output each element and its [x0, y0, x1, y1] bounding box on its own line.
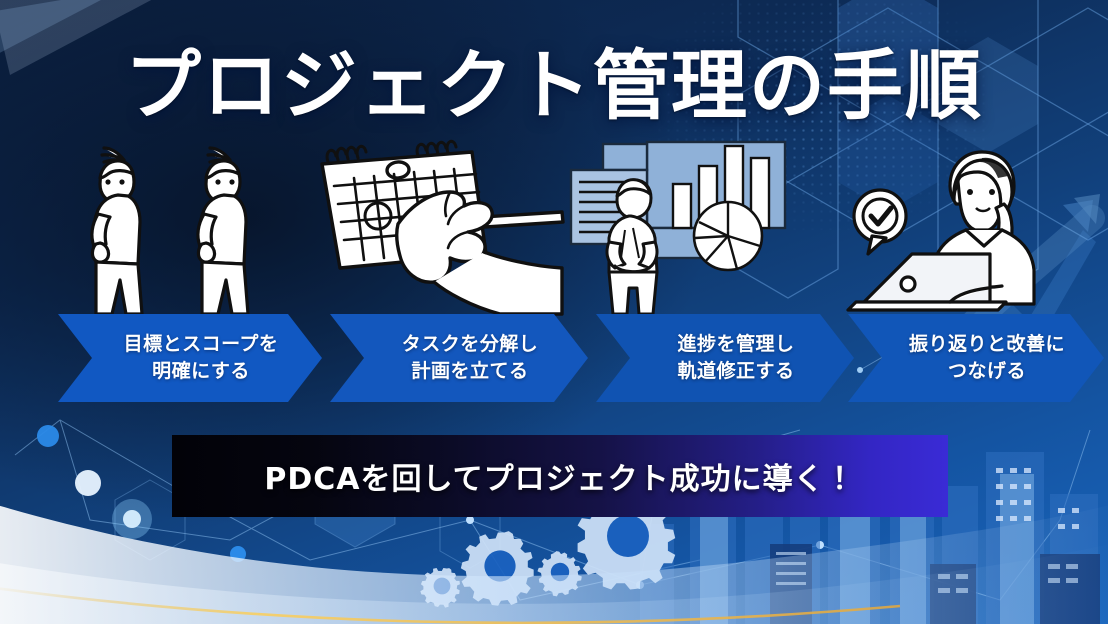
illustration-row [0, 138, 1108, 318]
conclusion-banner: PDCAを回してプロジェクト成功に導く！ [172, 435, 948, 517]
step-4-line1: 振り返りと改善に [909, 333, 1065, 355]
step-4-line2: つなげる [948, 360, 1026, 382]
step-3-label: 進捗を管理し 軌道修正する [655, 331, 794, 385]
person-viewing-dashboard-icon [565, 138, 795, 318]
step-3-line1: 進捗を管理し [677, 333, 794, 355]
two-people-stretching-icon [62, 138, 277, 318]
step-chevron-3[interactable]: 進捗を管理し 軌道修正する [596, 314, 854, 402]
page-title: プロジェクト管理の手順 [0, 24, 1108, 134]
step-2-line2: 計画を立てる [411, 360, 528, 382]
step-1-line2: 明確にする [152, 360, 250, 382]
step-chevron-4[interactable]: 振り返りと改善に つなげる [848, 314, 1104, 402]
step-1-label: 目標とスコープを 明確にする [102, 331, 279, 385]
step-4-label: 振り返りと改善に つなげる [887, 331, 1065, 385]
step-1-line1: 目標とスコープを [124, 333, 279, 355]
step-3-line2: 軌道修正する [677, 360, 794, 382]
step-2-label: タスクを分解し 計画を立てる [380, 331, 539, 385]
poster-canvas: プロジェクト管理の手順 [0, 0, 1108, 624]
step-2-line1: タスクを分解し [402, 333, 539, 355]
hand-writing-on-calendar-icon [300, 138, 565, 318]
step-chevron-row: 目標とスコープを 明確にする タスクを分解し 計画を立てる 進捗を管理し 軌道修… [0, 314, 1108, 402]
conclusion-banner-text: PDCAを回してプロジェクト成功に導く！ [264, 454, 855, 498]
step-chevron-2[interactable]: タスクを分解し 計画を立てる [330, 314, 588, 402]
step-chevron-1[interactable]: 目標とスコープを 明確にする [58, 314, 322, 402]
woman-laptop-checkmark-icon [838, 138, 1088, 318]
